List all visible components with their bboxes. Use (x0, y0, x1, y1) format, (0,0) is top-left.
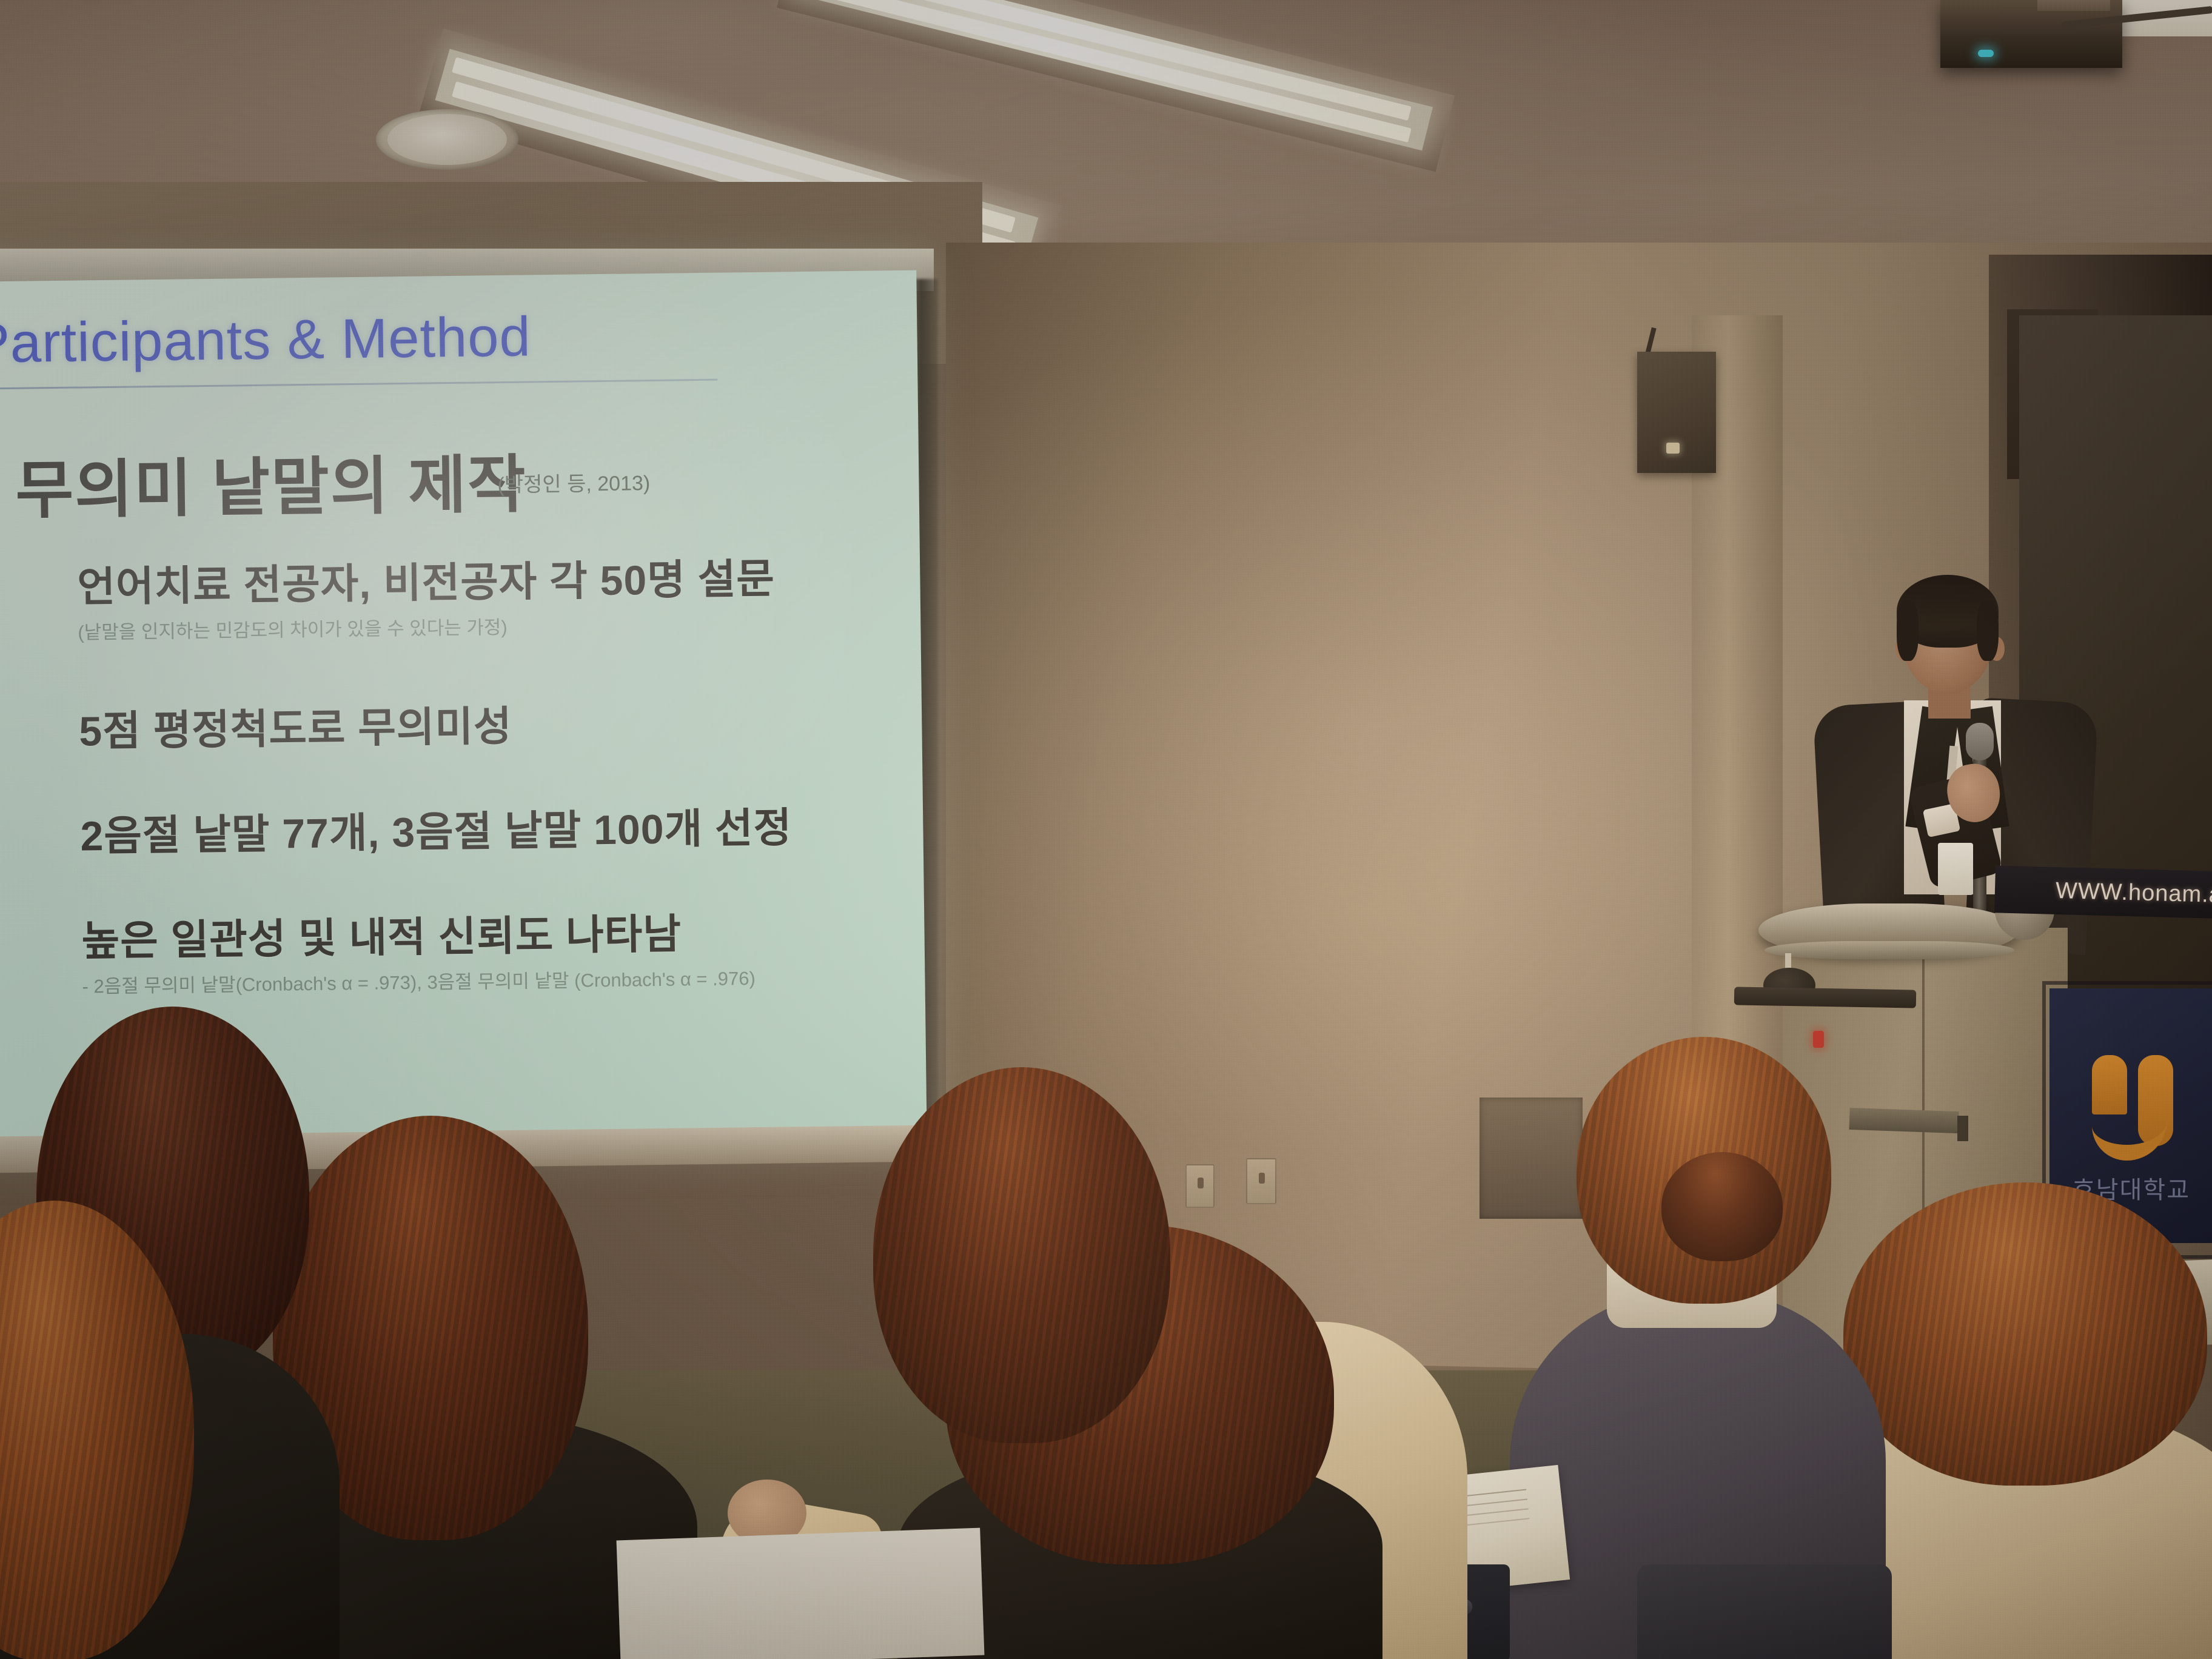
hair-highlight-texture (873, 1067, 1170, 1443)
slide-bullet-item: 높은 일관성 및 내적 신뢰도 나타남 - 2음절 무의미 낱말(Cronbac… (81, 898, 871, 999)
slide-bullet-item: 2음절 낱말 77개, 3음절 낱말 100개 선정 (80, 793, 869, 863)
slide-bullet-text: 언어치료 전공자, 비전공자 각 50명 설문 (77, 544, 866, 614)
presenter-hair-side-left (1897, 600, 1919, 661)
photograph-scene: Participants & Method 무의미 낱말의 제작 (박정인 등,… (0, 0, 2212, 1659)
slide-bullet-item: 5점 평정척도로 무의미성 (79, 688, 868, 758)
audience-member-center-head (873, 1067, 1170, 1443)
slide-bullet-text: 높은 일관성 및 내적 신뢰도 나타남 (81, 898, 870, 968)
presenter-hair-side-right (1977, 600, 1999, 661)
recessed-ceiling-lamp-left (376, 109, 518, 170)
wall-speaker (1637, 352, 1716, 473)
slide-bullet-text: 2음절 낱말 77개, 3음절 낱말 100개 선정 (80, 793, 869, 863)
slide-bullet-text: 5점 평정척도로 무의미성 (79, 688, 868, 758)
slide-title-divider (0, 379, 717, 390)
ceiling-projector (1940, 0, 2122, 68)
speaker-indicator-light (1666, 443, 1680, 454)
slide-bullet-note: - 2음절 무의미 낱말(Cronbach's α = .973), 3음절 무… (82, 962, 870, 999)
microphone-head (1966, 723, 1994, 760)
slide-heading-citation: (박정인 등, 2013) (497, 466, 650, 498)
wall-outlet-right (1246, 1158, 1276, 1204)
podium-side-shelf[interactable] (1734, 987, 1916, 1008)
slide-heading: 무의미 낱말의 제작 (15, 433, 527, 531)
presenter-name-badge (1938, 843, 1973, 895)
podium-url-text: WWW.honam.a (2055, 878, 2212, 908)
front-table-edge (617, 1528, 985, 1659)
wall-vent-panel (1480, 1098, 1583, 1219)
slide-bullet-note: (낱말을 인지하는 민감도의 차이가 있을 수 있다는 가정) (78, 608, 866, 645)
podium-handle-end-cap (1957, 1116, 1968, 1141)
slide-bullet-item: 언어치료 전공자, 비전공자 각 50명 설문 (낱말을 인지하는 민감도의 차… (77, 544, 866, 645)
slide-bullet-list: 언어치료 전공자, 비전공자 각 50명 설문 (낱말을 인지하는 민감도의 차… (77, 544, 871, 1044)
audience-member-right-bun (1661, 1152, 1783, 1261)
podium-handle-slot[interactable] (1849, 1108, 1959, 1133)
slide-section-title: Participants & Method (0, 304, 579, 375)
chair-back (1637, 1564, 1892, 1659)
projector-power-led (1978, 50, 1994, 57)
projector-mount (2037, 0, 2110, 11)
podium-edge-trim (1765, 941, 2014, 959)
wall-outlet-left (1185, 1164, 1215, 1208)
audience-member-far-right-head (1843, 1182, 2207, 1486)
podium-url-plate: WWW.honam.a (1994, 865, 2212, 918)
podium-power-led (1813, 1031, 1824, 1048)
hair-highlight-texture (1843, 1182, 2207, 1486)
